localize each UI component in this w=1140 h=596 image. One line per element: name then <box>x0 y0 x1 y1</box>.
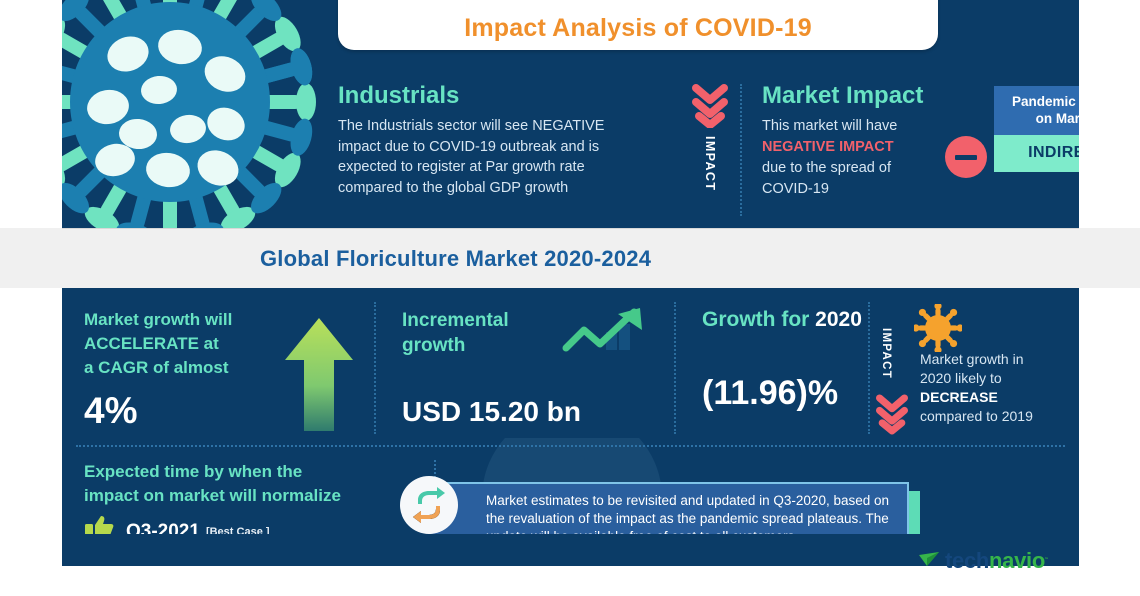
logo-text-tech: tech <box>945 548 989 574</box>
cagr-line1: Market growth will <box>84 310 232 329</box>
incremental-line2: growth <box>402 335 465 356</box>
pandemic-header-line2: on Market <box>1036 111 1079 126</box>
logo-text-navio: navio <box>989 548 1045 574</box>
cagr-line2: ACCELERATE at <box>84 334 219 353</box>
technavio-arrow-icon <box>918 549 940 574</box>
normalize-line1: Expected time by when the <box>84 462 302 481</box>
impact2020-line1: Market growth in <box>920 351 1023 367</box>
infographic-canvas: Impact Analysis of COVID-19 Industrials … <box>0 0 1140 596</box>
market-impact-heading: Market Impact <box>762 82 977 110</box>
pandemic-impact-header: Pandemic Impact on Market <box>994 86 1079 135</box>
sector-body: The Industrials sector will see NEGATIVE… <box>338 116 638 198</box>
growth2020-label-white: 2020 <box>815 308 862 331</box>
growth2020-label-green: Growth for <box>702 308 815 331</box>
vertical-divider <box>868 302 870 434</box>
normalize-line2: impact on market will normalize <box>84 486 341 505</box>
market-impact-line3: COVID-19 <box>762 181 829 197</box>
impact-indicator-top: IMPACT <box>692 84 728 214</box>
double-chevron-down-icon <box>876 392 908 441</box>
market-impact-line1: This market will have <box>762 118 897 134</box>
vertical-divider <box>674 302 676 434</box>
coronavirus-icon <box>62 0 340 228</box>
double-chevron-down-icon <box>692 84 728 128</box>
logo-trademark: ˜ <box>1045 556 1048 566</box>
market-title: Global Floriculture Market 2020-2024 <box>260 246 651 272</box>
pandemic-impact-box: Pandemic Impact on Market INDIRECT <box>994 86 1079 172</box>
cagr-line3: a CAGR of almost <box>84 358 229 377</box>
top-panel: Impact Analysis of COVID-19 Industrials … <box>62 0 1079 228</box>
market-title-band: Global Floriculture Market 2020-2024 <box>62 228 1079 289</box>
impact-label-top: IMPACT <box>703 136 717 191</box>
impact2020-line3: compared to 2019 <box>920 408 1033 424</box>
incremental-value: USD 15.20 bn <box>402 396 652 428</box>
pandemic-header-line1: Pandemic Impact <box>1012 94 1079 109</box>
vertical-divider <box>374 302 376 434</box>
title-card: Impact Analysis of COVID-19 <box>338 0 938 50</box>
impact-label-bottom: IMPACT <box>880 328 892 379</box>
refresh-cycle-icon <box>400 476 458 534</box>
minus-circle-icon <box>945 136 987 178</box>
market-impact-line2: due to the spread of <box>762 160 891 176</box>
impact2020-emphasis: DECREASE <box>920 389 998 405</box>
incremental-line1: Incremental <box>402 310 509 331</box>
coronavirus-dot-icon <box>914 304 962 352</box>
pandemic-impact-value: INDIRECT <box>994 135 1079 172</box>
up-arrow-icon <box>284 316 354 431</box>
market-impact-block: Market Impact This market will have NEGA… <box>762 82 977 200</box>
sector-heading: Industrials <box>338 82 638 110</box>
technavio-logo: technavio˜ <box>918 548 1048 574</box>
page-title: Impact Analysis of COVID-19 <box>464 14 812 43</box>
market-impact-emphasis: NEGATIVE IMPACT <box>762 139 894 155</box>
impact2020-line2: 2020 likely to <box>920 370 1002 386</box>
metric-impact-2020: IMPACT <box>882 302 1079 437</box>
vertical-divider <box>740 84 742 216</box>
trend-up-icon <box>562 306 652 364</box>
horizontal-divider <box>76 445 1065 447</box>
sector-block: Industrials The Industrials sector will … <box>338 82 638 198</box>
